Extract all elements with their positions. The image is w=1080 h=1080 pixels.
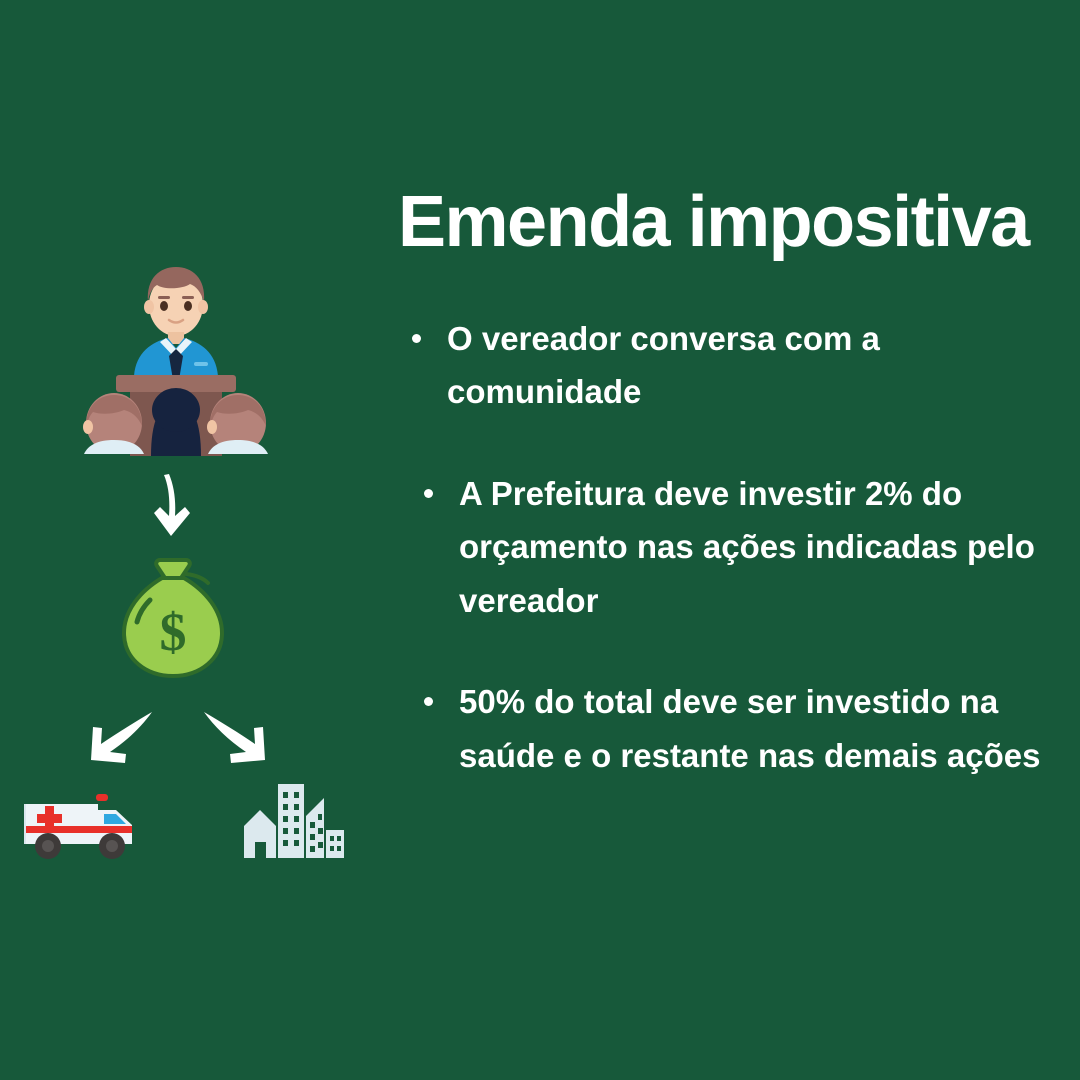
arrow-down-icon bbox=[142, 470, 200, 545]
infographic-poster: $ bbox=[0, 0, 1080, 1080]
city-buildings-icon bbox=[240, 780, 344, 865]
list-item: 50% do total deve ser investido na saúde… bbox=[424, 675, 1060, 782]
arrow-down-left-icon bbox=[78, 706, 160, 783]
list-item: O vereador conversa com a comunidade bbox=[412, 312, 1060, 419]
list-item: A Prefeitura deve investir 2% do orçamen… bbox=[424, 467, 1060, 627]
list-item-label: O vereador conversa com a comunidade bbox=[447, 312, 1060, 419]
text-column: Emenda impositiva O vereador conversa co… bbox=[390, 185, 1060, 782]
speaker-at-podium-illustration bbox=[82, 258, 270, 461]
ambulance-icon bbox=[12, 786, 142, 869]
money-bag-icon: $ bbox=[112, 552, 234, 687]
svg-text:$: $ bbox=[160, 602, 187, 662]
list-item-label: 50% do total deve ser investido na saúde… bbox=[459, 675, 1060, 782]
arrow-down-right-icon bbox=[196, 706, 278, 783]
list-item-label: A Prefeitura deve investir 2% do orçamen… bbox=[459, 467, 1060, 627]
bullet-dot-icon bbox=[424, 489, 433, 498]
bullet-dot-icon bbox=[424, 697, 433, 706]
bullet-dot-icon bbox=[412, 334, 421, 343]
page-title: Emenda impositiva bbox=[398, 185, 1060, 260]
bullet-list: O vereador conversa com a comunidade A P… bbox=[390, 312, 1060, 782]
